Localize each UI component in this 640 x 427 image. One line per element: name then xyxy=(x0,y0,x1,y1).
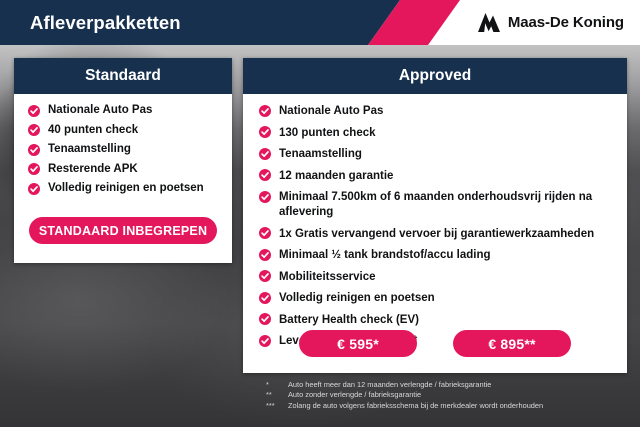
list-item: Volledig reinigen en poetsen xyxy=(243,291,627,306)
feature-label: Minimaal 7.500km of 6 maanden onderhouds… xyxy=(279,190,619,220)
feature-label: Volledig reinigen en poetsen xyxy=(48,182,204,195)
feature-label: Resterende APK xyxy=(48,163,138,176)
standaard-inbegrepen-button[interactable]: STANDAARD INBEGREPEN xyxy=(29,217,217,244)
brand-name: Maas-De Koning xyxy=(508,14,624,31)
check-circle-icon xyxy=(259,126,271,138)
feature-label: 40 punten check xyxy=(48,124,138,137)
footnote-marker: * xyxy=(262,380,288,390)
package-card-standaard: Standaard Nationale Auto Pas 40 punten c… xyxy=(14,58,232,263)
list-item: 1x Gratis vervangend vervoer bij garanti… xyxy=(243,227,627,242)
list-item: Nationale Auto Pas xyxy=(243,104,627,119)
price-button-595[interactable]: € 595* xyxy=(299,330,417,357)
package-title-standaard: Standaard xyxy=(14,58,232,94)
list-item: Resterende APK xyxy=(14,163,232,176)
list-item: Volledig reinigen en poetsen xyxy=(14,182,232,195)
check-circle-icon xyxy=(259,227,271,239)
check-circle-icon xyxy=(28,183,40,195)
list-item: Tenaamstelling xyxy=(243,147,627,162)
feature-label: Nationale Auto Pas xyxy=(48,104,152,117)
check-circle-icon xyxy=(259,148,271,160)
list-item: Battery Health check (EV) xyxy=(243,313,627,328)
page-title: Afleverpakketten xyxy=(30,0,181,45)
list-item: Mobiliteitsservice xyxy=(243,270,627,285)
feature-label: Volledig reinigen en poetsen xyxy=(279,291,435,306)
check-circle-icon xyxy=(259,169,271,181)
package-body-approved: Nationale Auto Pas 130 punten check Tena… xyxy=(243,94,627,349)
feature-label: Tenaamstelling xyxy=(279,147,362,162)
page-header: Afleverpakketten Maas-De Koning xyxy=(0,0,640,45)
package-title-approved: Approved xyxy=(243,58,627,94)
feature-label: 1x Gratis vervangend vervoer bij garanti… xyxy=(279,227,594,242)
feature-list-standaard: Nationale Auto Pas 40 punten check Tenaa… xyxy=(14,104,232,195)
check-circle-icon xyxy=(28,124,40,136)
list-item: Minimaal ½ tank brandstof/accu lading xyxy=(243,248,627,263)
footnote-text: Zolang de auto volgens fabrieksschema bi… xyxy=(288,401,622,411)
feature-list-approved: Nationale Auto Pas 130 punten check Tena… xyxy=(243,104,627,349)
check-circle-icon xyxy=(28,163,40,175)
footnote-3: *** Zolang de auto volgens fabrieksschem… xyxy=(262,401,622,411)
package-body-standaard: Nationale Auto Pas 40 punten check Tenaa… xyxy=(14,94,232,195)
check-circle-icon xyxy=(28,105,40,117)
footnote-text: Auto zonder verlengde / fabrieksgarantie xyxy=(288,390,622,400)
check-circle-icon xyxy=(259,292,271,304)
feature-label: Nationale Auto Pas xyxy=(279,104,383,119)
price-button-895[interactable]: € 895** xyxy=(453,330,571,357)
footnotes: * Auto heeft meer dan 12 maanden verleng… xyxy=(262,380,622,411)
feature-label: Tenaamstelling xyxy=(48,143,131,156)
check-circle-icon xyxy=(259,313,271,325)
list-item: 40 punten check xyxy=(14,124,232,137)
feature-label: Mobiliteitsservice xyxy=(279,270,376,285)
check-circle-icon xyxy=(259,105,271,117)
list-item: 12 maanden garantie xyxy=(243,169,627,184)
brand-logo: Maas-De Koning xyxy=(477,0,624,45)
footnote-text: Auto heeft meer dan 12 maanden verlengde… xyxy=(288,380,622,390)
feature-label: 130 punten check xyxy=(279,126,376,141)
footnote-2: ** Auto zonder verlengde / fabrieksgaran… xyxy=(262,390,622,400)
list-item: Tenaamstelling xyxy=(14,143,232,156)
footnote-marker: *** xyxy=(262,401,288,411)
list-item: Nationale Auto Pas xyxy=(14,104,232,117)
feature-label: Battery Health check (EV) xyxy=(279,313,419,328)
check-circle-icon xyxy=(259,270,271,282)
list-item: Minimaal 7.500km of 6 maanden onderhouds… xyxy=(243,190,627,220)
maas-de-koning-m-mark-icon xyxy=(477,12,501,33)
check-circle-icon xyxy=(259,191,271,203)
list-item: 130 punten check xyxy=(243,126,627,141)
price-button-row: € 595* € 895** xyxy=(243,330,627,357)
footnote-marker: ** xyxy=(262,390,288,400)
feature-label: Minimaal ½ tank brandstof/accu lading xyxy=(279,248,491,263)
feature-label: 12 maanden garantie xyxy=(279,169,393,184)
check-circle-icon xyxy=(28,144,40,156)
slide-canvas: Afleverpakketten Maas-De Koning Standaar… xyxy=(0,0,640,427)
package-card-approved: Approved Nationale Auto Pas 130 punten c… xyxy=(243,58,627,373)
check-circle-icon xyxy=(259,249,271,261)
footnote-1: * Auto heeft meer dan 12 maanden verleng… xyxy=(262,380,622,390)
